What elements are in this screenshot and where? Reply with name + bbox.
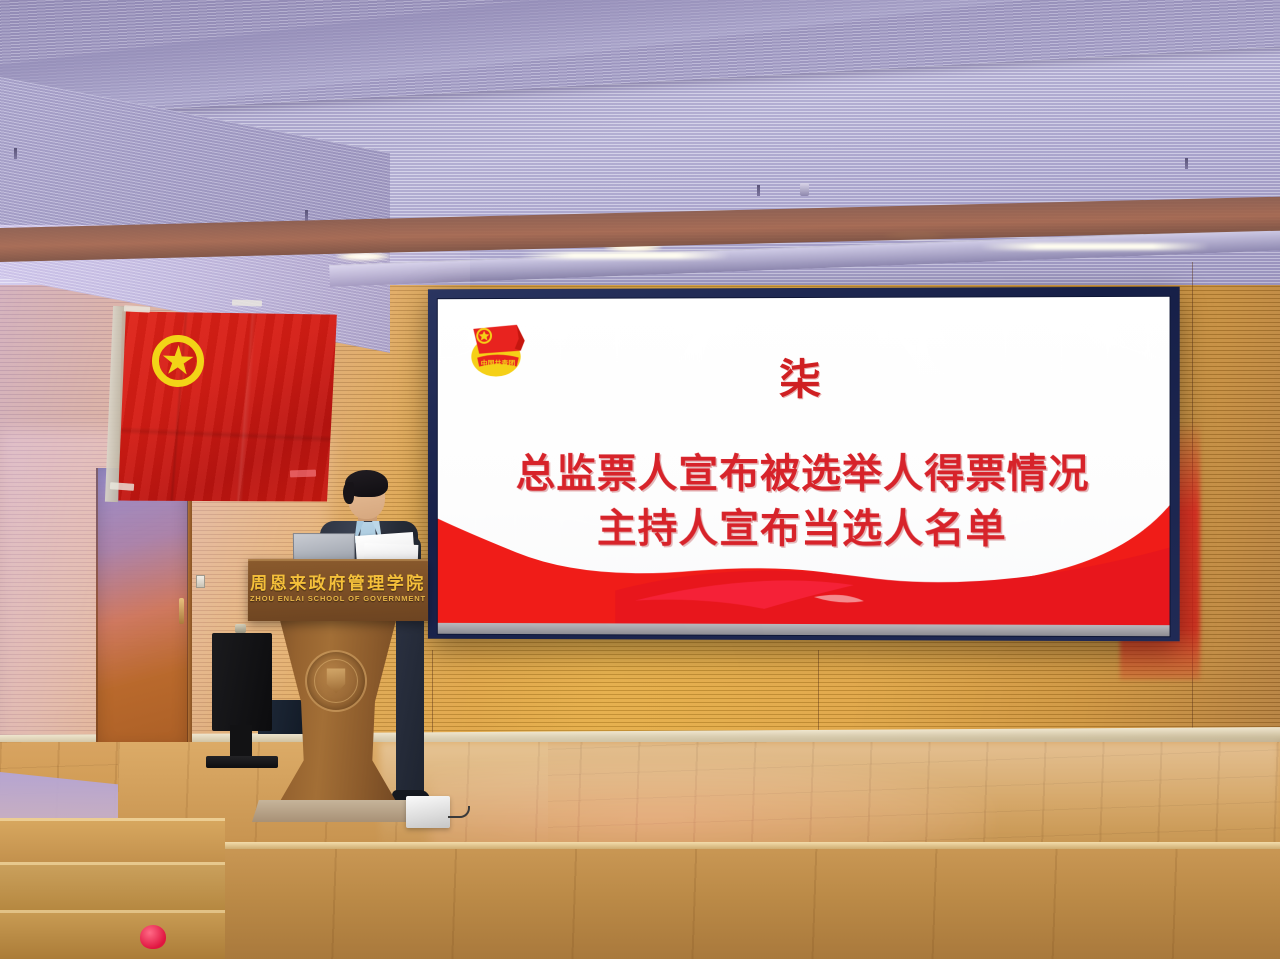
flag-tape — [124, 305, 150, 312]
screen-panel: 中国共青团 柒 总监票人宣布被选举人得票情况 主持人宣布当选人名单 — [437, 296, 1171, 637]
speaker-leg — [396, 608, 424, 798]
soffit-strip-light — [520, 252, 730, 259]
led-display-screen[interactable]: 中国共青团 柒 总监票人宣布被选举人得票情况 主持人宣布当选人名单 — [428, 287, 1180, 642]
flag-tape — [232, 299, 262, 306]
ceiling-hook — [14, 148, 17, 159]
ceiling-hook — [757, 185, 760, 196]
door-handle[interactable] — [179, 598, 184, 624]
light-switch-plate[interactable] — [196, 575, 205, 588]
podium-base-platform — [252, 800, 424, 822]
wall-panel-seam — [432, 650, 433, 735]
communist-youth-league-flag — [114, 306, 337, 510]
ceiling-hook — [305, 210, 308, 221]
flag-tape — [290, 470, 316, 478]
stage-front-face — [215, 845, 1280, 959]
podium-title-cn: 周恩来政府管理学院 — [248, 569, 428, 594]
ceiling-light-fixture — [800, 183, 809, 196]
slide-line-1: 总监票人宣布被选举人得票情况 — [438, 441, 1170, 499]
monitor-base — [206, 756, 278, 768]
speaker-sideburn — [343, 482, 354, 504]
presentation-slide: 中国共青团 柒 总监票人宣布被选举人得票情况 主持人宣布当选人名单 — [438, 297, 1170, 636]
flag-fabric-creases — [114, 306, 337, 510]
soffit-strip-light — [980, 243, 1210, 250]
stage-step-1 — [0, 818, 225, 864]
red-flower-decoration — [140, 925, 166, 949]
white-equipment-box — [406, 796, 450, 828]
stage-step-3 — [0, 910, 225, 959]
stage-front-lip — [215, 842, 1280, 849]
slide-red-ribbon-graphic — [438, 505, 1170, 626]
podium-title-en: ZHOU ENLAI SCHOOL OF GOVERNMENT — [248, 594, 428, 603]
wall-panel-seam — [818, 650, 819, 735]
screen-bottom-bar — [438, 623, 1170, 636]
slide-number: 柒 — [438, 345, 1170, 407]
podium-lectern-top: 周恩来政府管理学院 ZHOU ENLAI SCHOOL OF GOVERNMEN… — [248, 559, 428, 621]
ceiling-hook — [1185, 158, 1188, 169]
door-frame — [188, 466, 192, 750]
stage-step-2 — [0, 862, 225, 912]
auditorium-scene: 中国共青团 柒 总监票人宣布被选举人得票情况 主持人宣布当选人名单 — [0, 0, 1280, 959]
equipment-knob — [235, 624, 246, 633]
nankai-university-seal-icon — [305, 650, 367, 712]
stage-monitor — [212, 633, 272, 731]
side-door[interactable] — [96, 468, 189, 748]
